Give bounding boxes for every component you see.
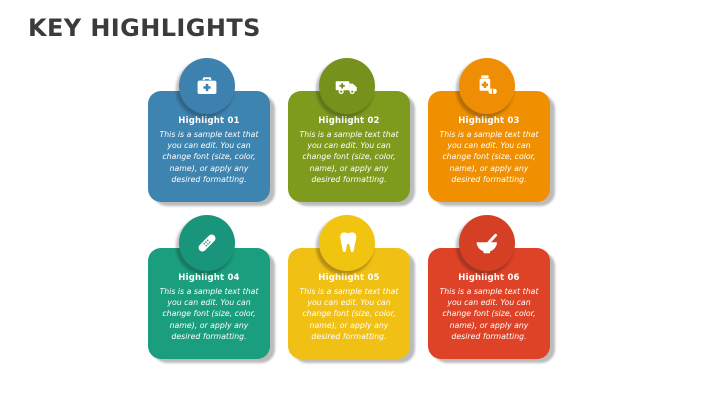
icon-circle [459,215,515,271]
card-description: This is a sample text that you can edit.… [156,286,262,341]
page-title: KEY HIGHLIGHTS [28,14,261,42]
highlight-card[interactable]: Highlight 02This is a sample text that y… [288,58,410,176]
card-heading: Highlight 02 [296,117,402,126]
highlight-card[interactable]: Highlight 01This is a sample text that y… [148,58,270,176]
first-aid-kit-icon [195,74,219,98]
card-heading: Highlight 05 [296,274,402,283]
highlight-card[interactable]: Highlight 04This is a sample text that y… [148,215,270,333]
highlights-grid: Highlight 01This is a sample text that y… [148,58,578,388]
highlight-card[interactable]: Highlight 06This is a sample text that y… [428,215,550,333]
icon-circle [179,58,235,114]
bandage-icon [195,231,219,255]
highlight-card[interactable]: Highlight 05This is a sample text that y… [288,215,410,333]
card-heading: Highlight 01 [156,117,262,126]
tooth-icon [335,231,359,255]
icon-circle [459,58,515,114]
card-description: This is a sample text that you can edit.… [296,286,402,341]
card-description: This is a sample text that you can edit.… [436,129,542,184]
card-description: This is a sample text that you can edit.… [156,129,262,184]
icon-circle [319,58,375,114]
ambulance-icon [335,74,359,98]
highlight-card[interactable]: Highlight 03This is a sample text that y… [428,58,550,176]
icon-circle [179,215,235,271]
slide-canvas: KEY HIGHLIGHTS Highlight 01This is a sam… [0,0,720,404]
card-description: This is a sample text that you can edit.… [436,286,542,341]
medicine-bottle-icon [475,74,499,98]
icon-circle [319,215,375,271]
card-heading: Highlight 06 [436,274,542,283]
card-heading: Highlight 03 [436,117,542,126]
card-description: This is a sample text that you can edit.… [296,129,402,184]
mortar-pestle-icon [475,231,499,255]
card-heading: Highlight 04 [156,274,262,283]
